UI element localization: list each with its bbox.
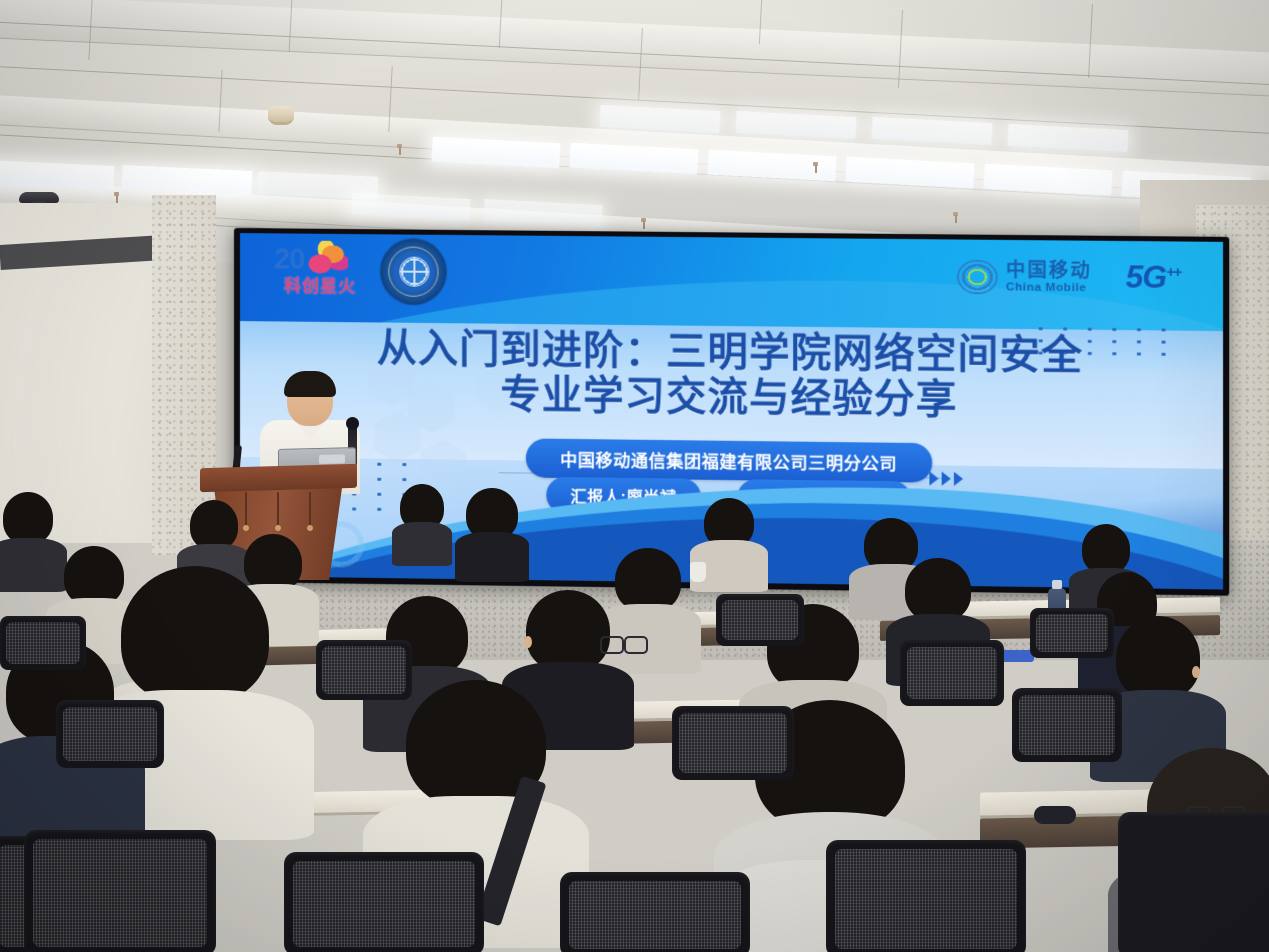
- audience-member: [396, 484, 448, 554]
- chair: [672, 706, 794, 780]
- podium-detail: [245, 492, 311, 532]
- audience-member: [186, 500, 242, 576]
- chair: [316, 640, 412, 700]
- china-mobile-mark-icon: [957, 260, 998, 295]
- audience-member: [462, 488, 522, 568]
- smoke-detector-icon: [268, 106, 294, 125]
- sprinkler-head-icon: [812, 162, 819, 173]
- sprinkler-head-icon: [640, 218, 647, 229]
- five-g-logo: 5G++: [1126, 259, 1180, 296]
- china-mobile-logo: 中国移动 China Mobile: [957, 260, 1092, 296]
- slide-title-line-1: 从入门到进阶：三明学院网络空间安全: [377, 326, 1083, 378]
- paper-cup: [690, 562, 706, 582]
- kechuang-xinghuo-logo: 20 科创星火: [272, 241, 368, 304]
- sprinkler-head-icon: [396, 144, 403, 155]
- logo-brand-text: 科创星火: [272, 271, 368, 297]
- chair: [1012, 688, 1122, 762]
- chair: [0, 616, 86, 670]
- chair: [826, 840, 1026, 952]
- chair: [716, 594, 804, 646]
- flame-icon: [308, 241, 348, 274]
- audience-member: [1110, 616, 1206, 756]
- sprinkler-head-icon: [113, 192, 120, 203]
- slide-title: 从入门到进阶：三明学院网络空间安全 专业学习交流与经验分享: [240, 325, 1223, 426]
- lecture-hall-photo: 20 科创星火 中国移动 China Mobile 5G++: [0, 0, 1269, 952]
- glasses-case: [1034, 806, 1076, 824]
- phone: [1000, 650, 1034, 662]
- glasses-icon: [600, 636, 648, 652]
- chair: [900, 640, 1004, 706]
- audience-member: [0, 492, 56, 572]
- sprinkler-head-icon: [952, 212, 959, 223]
- china-mobile-en-label: China Mobile: [1006, 282, 1092, 294]
- chair: [284, 852, 484, 952]
- chair: [24, 830, 216, 952]
- audience-member: [700, 498, 758, 574]
- china-mobile-cn-label: 中国移动: [1006, 261, 1092, 281]
- chair: [1118, 812, 1269, 952]
- chair: [560, 872, 750, 952]
- ceiling-panel-light: [0, 160, 114, 190]
- globe-emblem-icon: [380, 238, 446, 305]
- chair: [1030, 608, 1114, 658]
- chair: [56, 700, 164, 768]
